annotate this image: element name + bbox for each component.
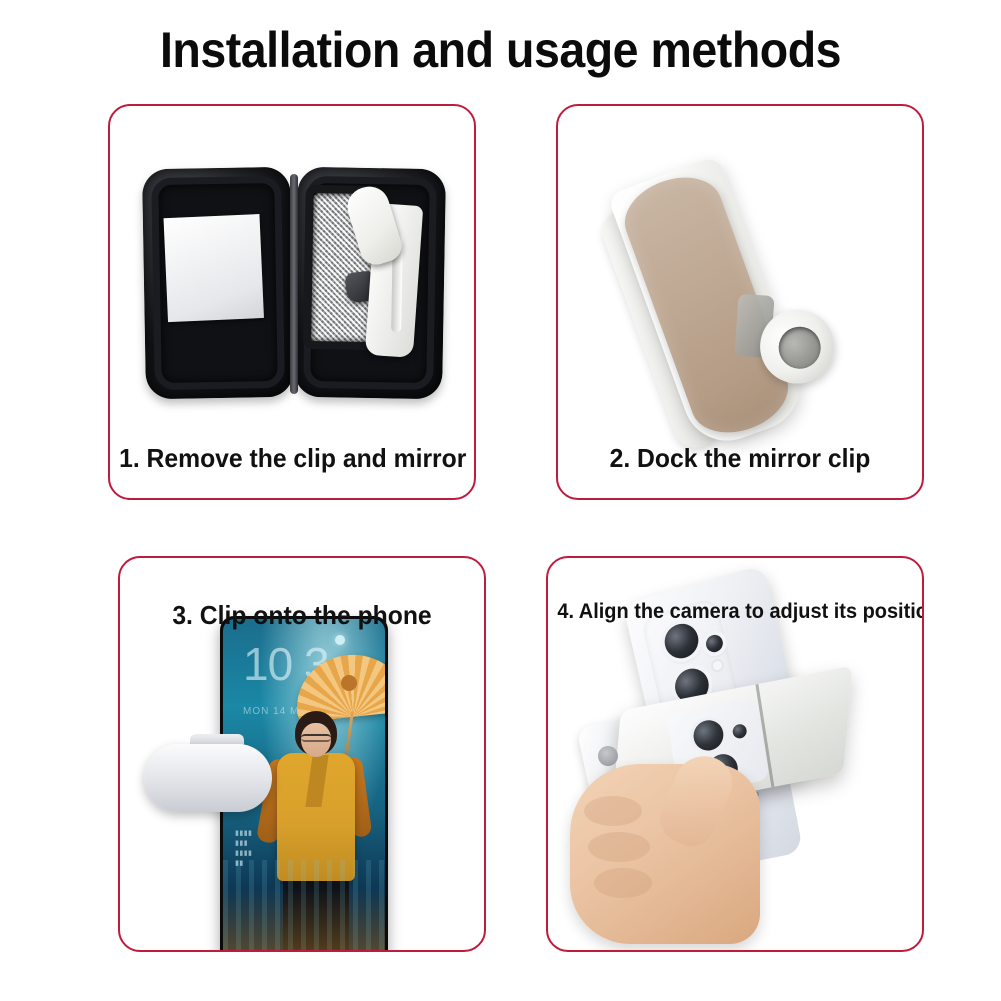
case-right-half xyxy=(294,167,446,400)
finger-crease-3 xyxy=(594,868,652,898)
step-panel-3: 3. Clip onto the phone 10 3 MON 14 MAR xyxy=(118,556,486,952)
zipper-case-graphic xyxy=(144,168,444,398)
microfiber-cloth xyxy=(164,214,264,322)
clock-hour: 10 xyxy=(243,638,292,690)
parasol-hub xyxy=(341,675,357,691)
case-left-half xyxy=(142,167,294,400)
camera-lens-main xyxy=(661,620,701,663)
infographic-page: Installation and usage methods xyxy=(0,0,1001,1001)
wallpaper-text: ▮▮▮▮▮▮▮▮▮▮▮▮▮ xyxy=(235,829,291,869)
city-backdrop xyxy=(223,860,385,950)
step-2-caption: 2. Dock the mirror clip xyxy=(567,443,913,474)
docked-mirror-clip-graphic xyxy=(578,112,912,470)
step-2-illustration xyxy=(558,106,922,498)
glasses-icon xyxy=(301,734,331,742)
step-panel-2: 2. Dock the mirror clip xyxy=(556,104,924,500)
finger-crease-2 xyxy=(588,832,650,862)
mirror-clip-attached xyxy=(144,744,272,812)
camera-lens-macro xyxy=(704,633,724,654)
finger-crease-1 xyxy=(584,796,642,826)
camera-flash-icon xyxy=(712,660,723,671)
step-4-caption: 4. Align the camera to adjust its positi… xyxy=(557,600,912,624)
zipper-icon xyxy=(290,174,298,394)
step-panel-1: 1. Remove the clip and mirror xyxy=(108,104,476,500)
step-1-illustration xyxy=(110,106,474,498)
step-1-caption: 1. Remove the clip and mirror xyxy=(119,443,465,474)
step-3-caption: 3. Clip onto the phone xyxy=(129,600,475,631)
page-title: Installation and usage methods xyxy=(35,20,966,80)
clip-lens-opening xyxy=(598,746,618,766)
step-panel-4: 4. Align the camera to adjust its positi… xyxy=(546,556,924,952)
moon-icon xyxy=(335,635,345,645)
